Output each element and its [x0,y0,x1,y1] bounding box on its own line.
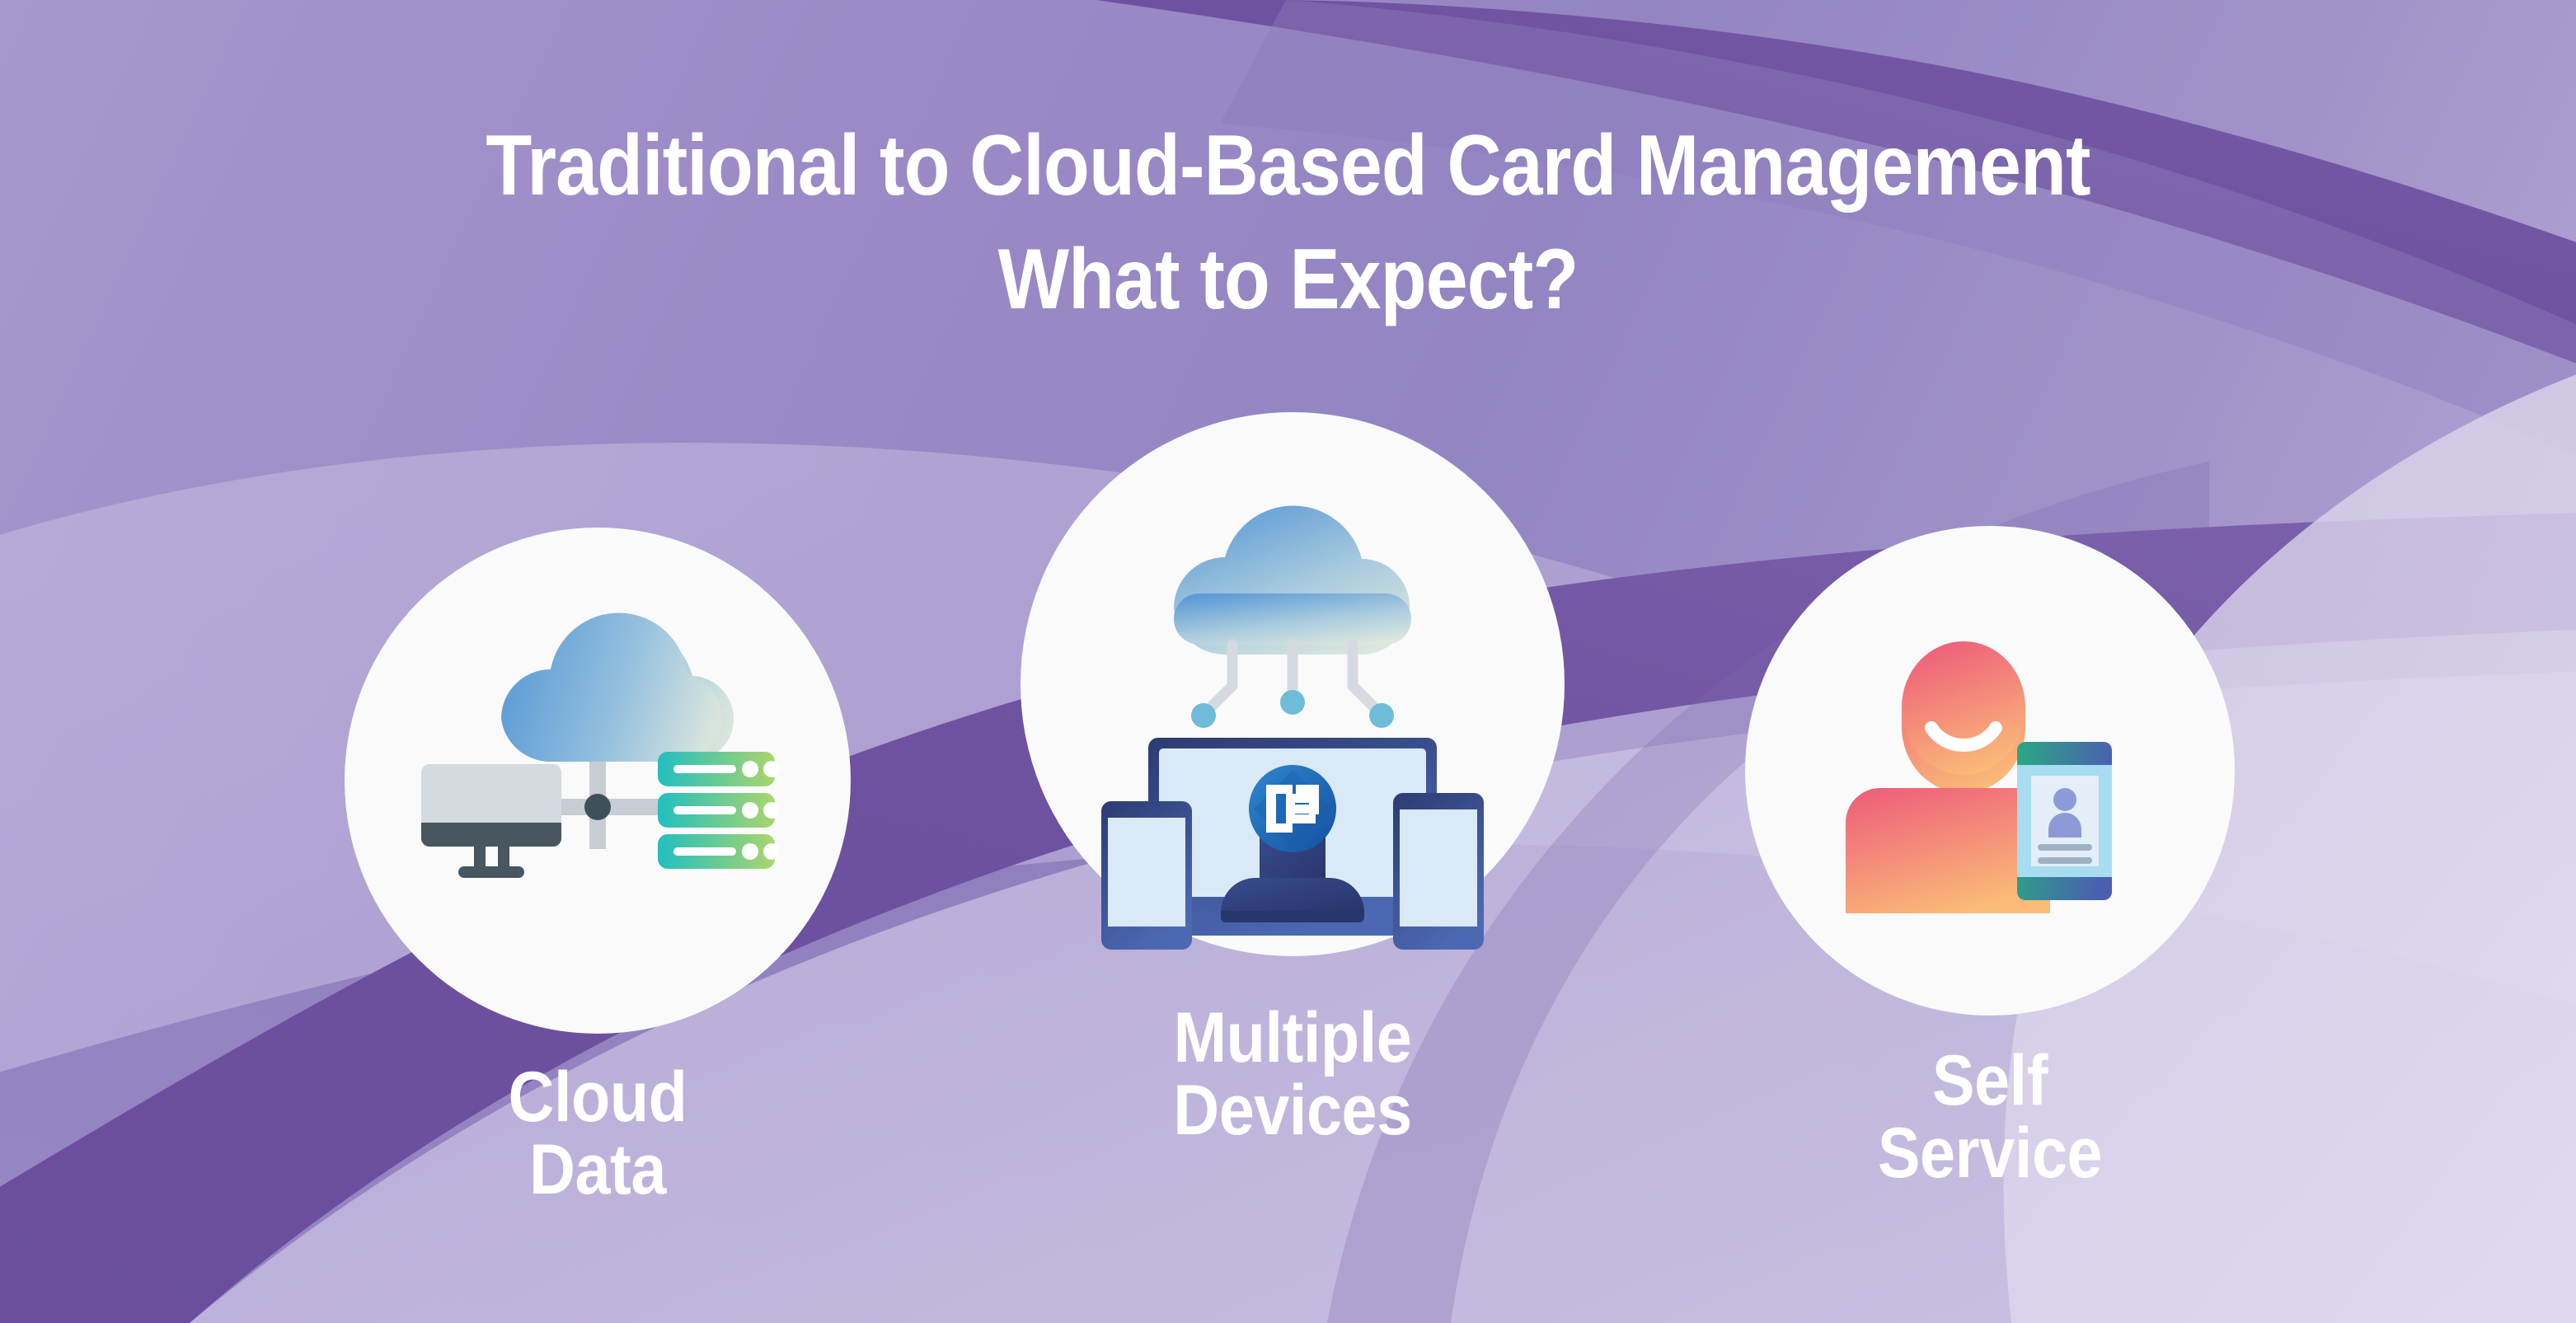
connector-node-icon [584,794,611,820]
feature-caption-cloud-data: Cloud Data [370,1062,826,1206]
id-text-line-1 [2038,844,2092,851]
feature-circle-background [1021,412,1565,956]
phone-left-icon [1101,801,1192,950]
phone-right-icon [1393,793,1484,950]
cloud-icon [1174,505,1411,654]
feature-circle-background [345,528,851,1034]
monitor-icon [421,764,561,878]
multiple-devices-icon [1021,412,1565,956]
server-racks-icon [658,752,780,869]
feature-multiple-devices[interactable]: Multiple Devices [1021,412,1565,956]
feature-caption-multiple-devices: Multiple Devices [1048,1002,1537,1147]
feature-circle-background [1745,526,2235,1016]
feature-cloud-data[interactable]: Cloud Data [345,528,851,1034]
banner-canvas: Traditional to Cloud-Based Card Manageme… [0,0,2576,1323]
self-service-icon [1745,526,2235,1016]
feature-self-service[interactable]: Self Service [1745,526,2235,1016]
brand-logo-badge-icon [1249,765,1336,852]
cloud-data-icon [345,528,851,1034]
cloud-icon [501,613,734,762]
id-text-line-2 [2038,857,2092,864]
person-head-icon [1902,641,2025,793]
feature-caption-self-service: Self Service [1770,1045,2211,1189]
phone-id-card-icon [2017,742,2112,900]
